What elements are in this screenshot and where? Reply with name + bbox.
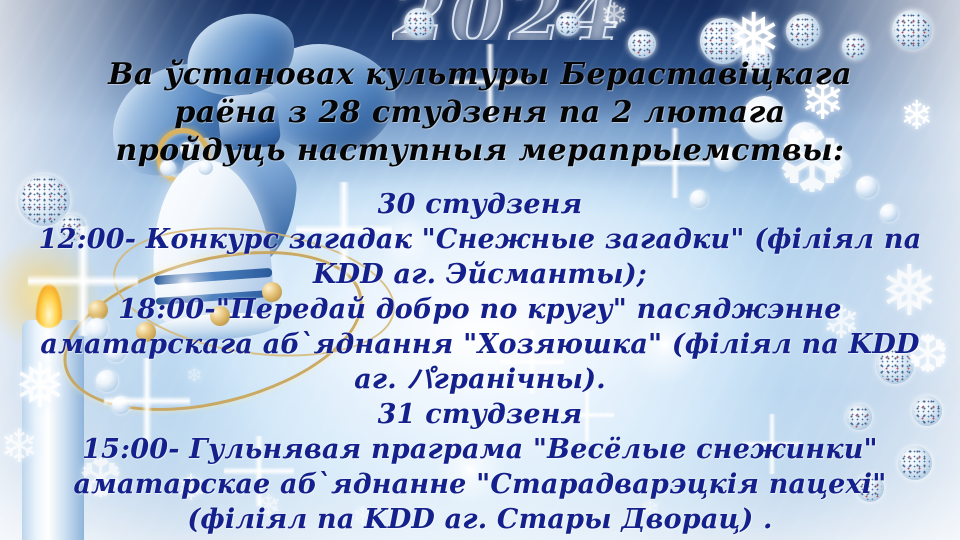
poster-headline: Ва ўстановах культуры Бераставіцкага раё…: [30, 56, 930, 170]
headline-line-3: пройдуць наступныя мерапрыемствы:: [30, 132, 930, 170]
body-line-1800-c: аг. パгранічны).: [30, 362, 930, 397]
body-line-1500-c: (філіял па KDD аг. Стары Дворац) .: [30, 502, 930, 537]
body-line-1200-a: 12:00- Конкурс загадак "Снежные загадки"…: [30, 222, 930, 257]
poster-text-layer: Ва ўстановах культуры Бераставіцкага раё…: [0, 0, 960, 540]
headline-line-1: Ва ўстановах культуры Бераставіцкага: [30, 56, 930, 94]
headline-line-2: раёна з 28 студзеня па 2 лютага: [30, 94, 930, 132]
poster-body: 30 студзеня 12:00- Конкурс загадак "Снеж…: [30, 187, 930, 537]
body-line-date-31: 31 студзеня: [30, 397, 930, 432]
body-line-1800-b: аматарскага аб`яднання "Хозяюшка" (філія…: [30, 327, 930, 362]
body-line-1500-b: аматарскае аб`яднанне "Старадварэцкія па…: [30, 467, 930, 502]
winter-events-poster: 2024: [0, 0, 960, 540]
body-line-1800-a: 18:00-"Передай добро по кругу" пасяджэнн…: [30, 292, 930, 327]
body-line-1500-a: 15:00- Гульнявая праграма "Весёлые снежи…: [30, 432, 930, 467]
body-line-1200-b: KDD аг. Эйсманты);: [30, 257, 930, 292]
body-line-date-30: 30 студзеня: [30, 187, 930, 222]
